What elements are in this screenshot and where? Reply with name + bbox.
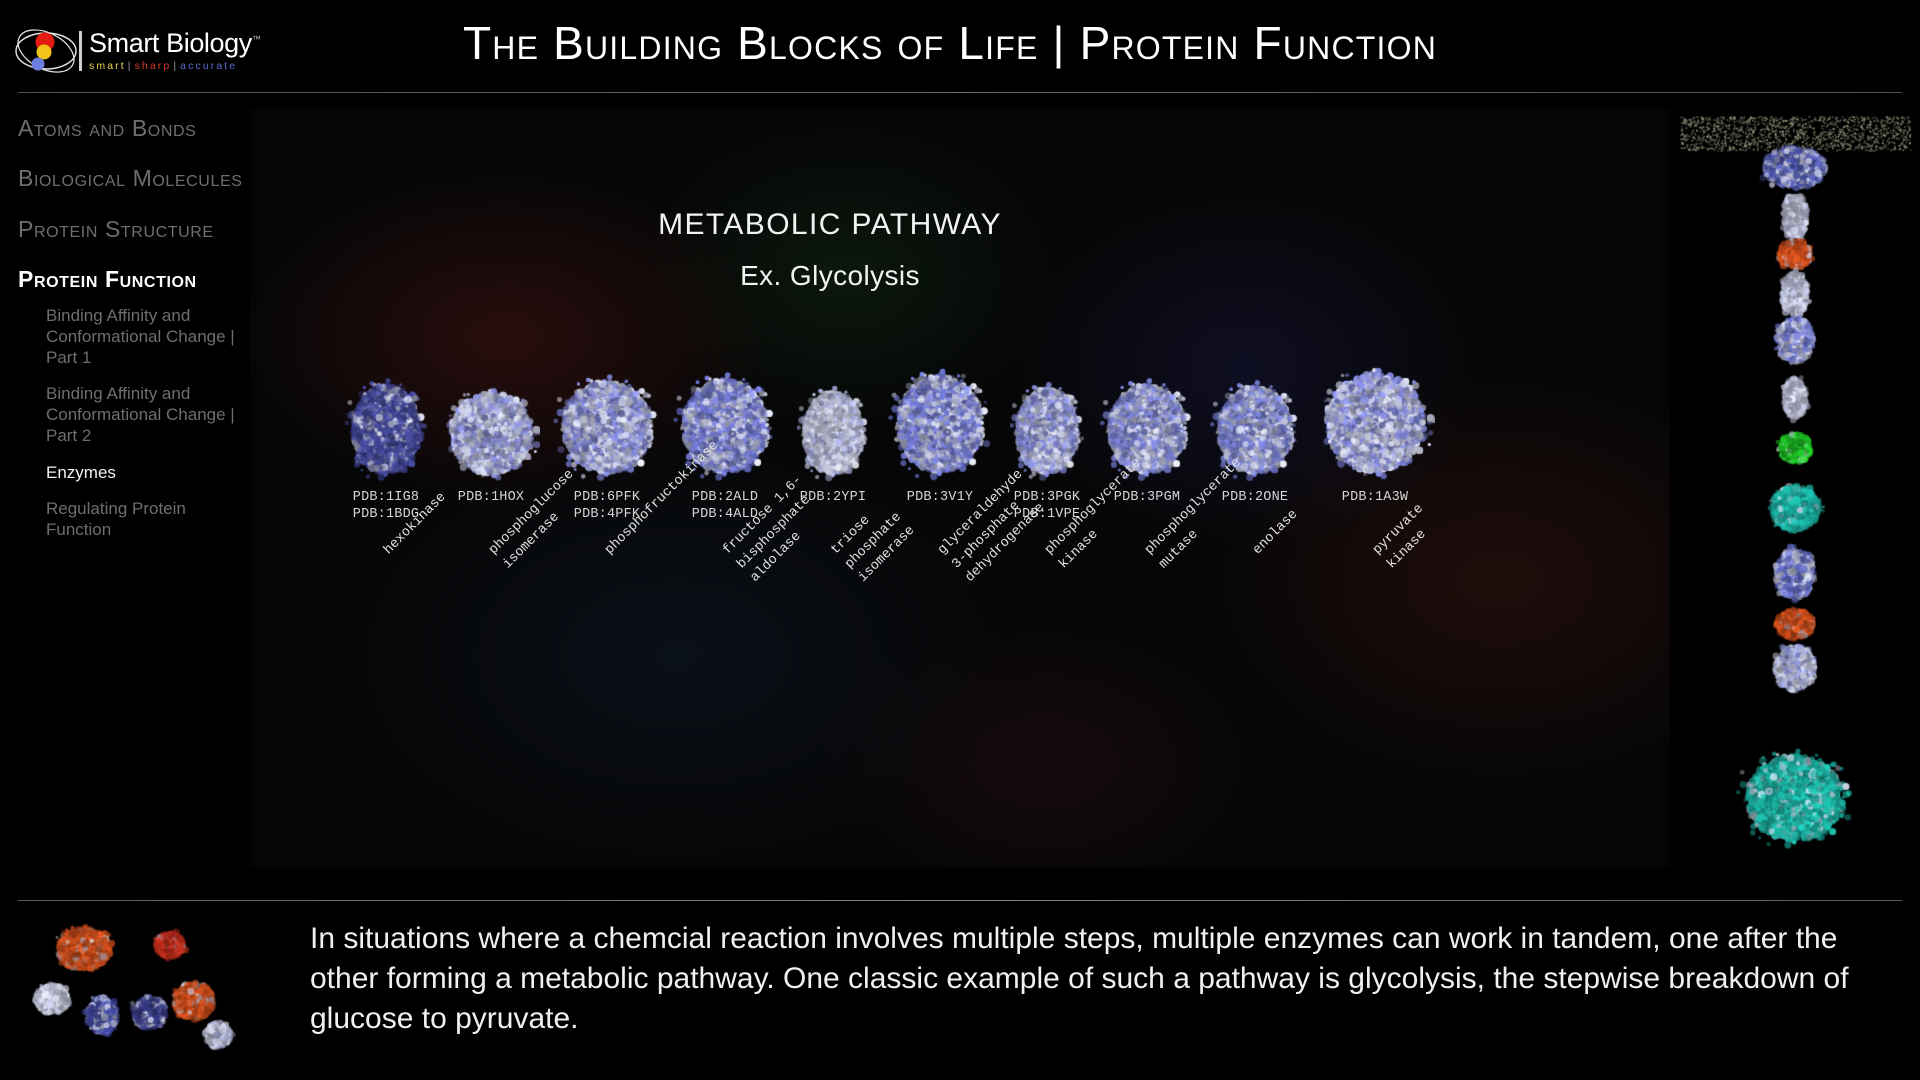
logo-name-text: Smart Biology — [89, 28, 252, 58]
sidebar-subitem-enzymes[interactable]: Enzymes — [46, 463, 236, 484]
page-footer: In situations where a chemcial reaction … — [0, 901, 1920, 1080]
logo-wordmark: Smart Biology™ smart|sharp|accurate — [89, 30, 260, 72]
sidebar-subitem-binding-affinity-and-conformational-change-part-1[interactable]: Binding Affinity and Conformational Chan… — [46, 306, 236, 368]
pathway-heading: METABOLIC PATHWAY — [250, 208, 1410, 242]
sidebar-chapter-protein-structure[interactable]: Protein Structure — [18, 217, 250, 242]
brand-logo[interactable]: Smart Biology™ smart|sharp|accurate — [14, 20, 264, 82]
protein-assembly-column — [1670, 108, 1920, 868]
main-stage: METABOLIC PATHWAY Ex. Glycolysis PDB:1IG… — [250, 108, 1670, 868]
sidebar-chapter-atoms-and-bonds[interactable]: Atoms and Bonds — [18, 116, 250, 141]
header-divider — [18, 92, 1902, 93]
page-title: The Building Blocks of Life | Protein Fu… — [250, 16, 1650, 70]
sidebar-nav: Atoms and BondsBiological MoleculesProte… — [0, 108, 250, 868]
sidebar-subitem-regulating-protein-function[interactable]: Regulating Protein Function — [46, 499, 236, 540]
tagline-separator-1: | — [126, 60, 135, 72]
protein-structure-triose — [797, 383, 869, 483]
protein-structure-glyceraldehyde — [888, 365, 992, 483]
sidebar-chapter-list: Atoms and BondsBiological MoleculesProte… — [18, 116, 250, 292]
atom-orbital-icon — [14, 24, 78, 78]
protein-structure-phosphoglycerate — [1100, 375, 1194, 483]
logo-name: Smart Biology™ — [89, 30, 260, 58]
logo-tagline: smart|sharp|accurate — [89, 60, 260, 72]
pdb-code-line: PDB:1A3W — [1305, 490, 1445, 507]
pathway-subheading: Ex. Glycolysis — [250, 260, 1410, 292]
tagline-separator-2: | — [171, 60, 180, 72]
footer-caption: In situations where a chemcial reaction … — [310, 919, 1880, 1040]
pdb-code-label: PDB:1A3W — [1305, 490, 1445, 507]
sidebar-chapter-biological-molecules[interactable]: Biological Molecules — [18, 166, 250, 191]
tagline-word-smart: smart — [89, 60, 126, 72]
page-header: Smart Biology™ smart|sharp|accurate The … — [0, 0, 1920, 108]
logo-divider — [79, 31, 82, 71]
tagline-word-sharp: sharp — [135, 60, 172, 72]
protein-structure-phosphofructokinase — [553, 371, 661, 483]
protein-structure-pyruvate — [1315, 361, 1435, 483]
sidebar-subitem-binding-affinity-and-conformational-change-part-2[interactable]: Binding Affinity and Conformational Chan… — [46, 384, 236, 446]
sidebar-chapter-protein-function[interactable]: Protein Function — [18, 267, 250, 292]
tagline-word-accurate: accurate — [180, 60, 237, 72]
protein-structure-phosphoglucose — [442, 383, 540, 483]
protein-structure-hexokinase — [345, 375, 427, 483]
protein-assembly-render — [1670, 108, 1920, 868]
protein-structure-phosphoglycerate — [1010, 379, 1084, 483]
enzyme-name-row: hexokinasephosphoglucoseisomerasephospho… — [310, 528, 1430, 758]
sidebar-subitem-list: Binding Affinity and Conformational Chan… — [18, 306, 250, 541]
footer-thumbnail-render — [22, 917, 242, 1057]
